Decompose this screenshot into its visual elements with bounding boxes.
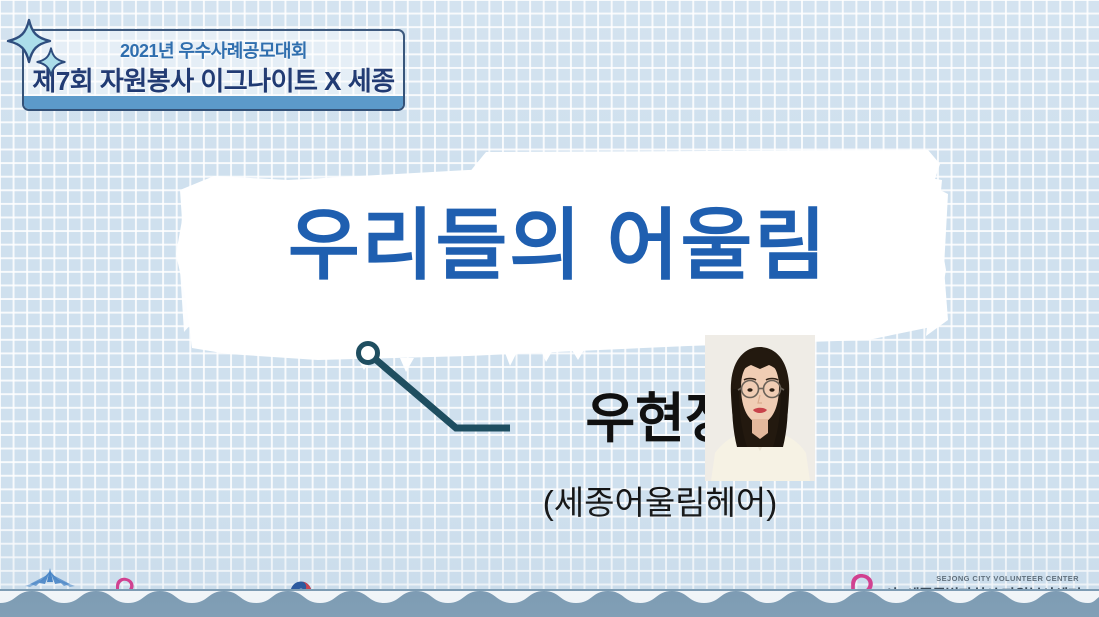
header-main-line: 제7회 자원봉사 이그나이트 X 세종 <box>24 61 403 98</box>
title-brush-block: 우리들의 어울림 <box>168 150 948 375</box>
presenter-organization: (세종어울림헤어) <box>470 486 850 519</box>
presentation-slide: 2021년 우수사례공모대회 제7회 자원봉사 이그나이트 X 세종 우리들의 … <box>0 0 1099 617</box>
presenter-photo <box>705 335 815 481</box>
presenter-portrait-illustration <box>705 335 815 481</box>
header-badge-bottom-bar <box>24 96 403 109</box>
header-title-badge: 2021년 우수사례공모대회 제7회 자원봉사 이그나이트 X 세종 <box>22 29 405 111</box>
header-subtitle-line: 2021년 우수사례공모대회 <box>24 37 403 63</box>
footer-wave-decoration <box>0 589 1099 617</box>
main-title: 우리들의 어울림 <box>168 206 948 284</box>
pointer-connector-line <box>352 338 527 443</box>
sejong-wing-icon <box>24 568 76 588</box>
